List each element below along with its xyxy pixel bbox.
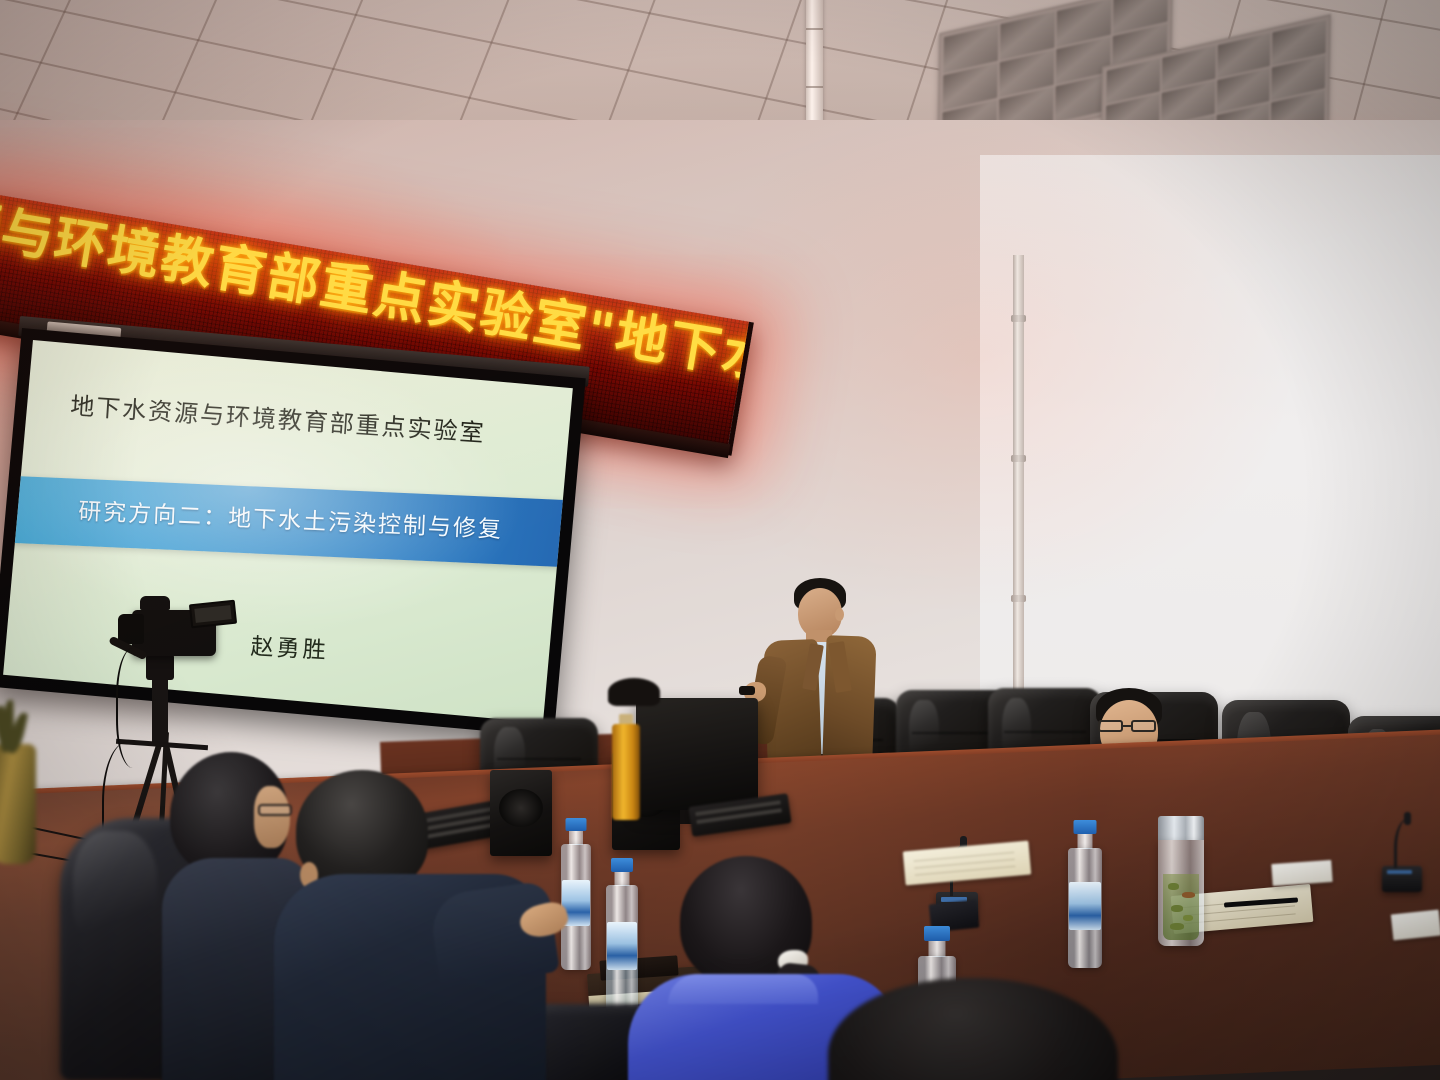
water-bottle[interactable] — [1068, 820, 1102, 968]
computer-monitor — [636, 698, 758, 810]
tea-leaves — [1163, 874, 1200, 940]
jacket-collar — [668, 974, 818, 1004]
glasses-icon — [1098, 720, 1160, 732]
camera-lens-icon — [118, 614, 144, 644]
speaker-cone-top — [608, 678, 660, 706]
presenter-ear — [835, 608, 844, 621]
decorative-vase — [0, 706, 38, 866]
presentation-clicker[interactable] — [739, 686, 755, 695]
paper-sheet[interactable] — [1271, 860, 1332, 886]
gooseneck-microphone[interactable] — [1382, 812, 1422, 892]
camera-handle — [140, 596, 170, 610]
paper-sheet[interactable] — [1391, 910, 1440, 941]
attendee-navy-jacket — [274, 770, 574, 1080]
slide-title: 地下水资源与环境教育部重点实验室 — [70, 386, 537, 452]
conference-room-photo: 源与环境教育部重点实验室"地下水土控制与修复"座谈会 地下水资源与环境教育部重点… — [0, 0, 1440, 1080]
vase-body — [0, 744, 36, 864]
attendee-hair — [828, 978, 1118, 1080]
attendee-foreground-dark — [828, 978, 1128, 1080]
glass-tea-thermos[interactable] — [1158, 816, 1204, 946]
juice-bottle[interactable] — [612, 724, 640, 820]
camera-lcd-screen — [189, 600, 237, 629]
